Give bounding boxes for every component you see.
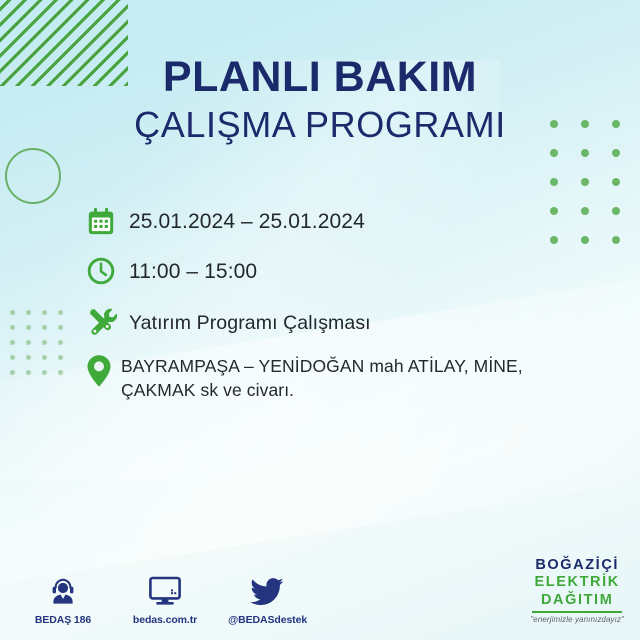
- contact-twitter-label: @BEDASdestek: [228, 614, 306, 626]
- tools-icon: [84, 304, 118, 338]
- twitter-bird-icon: [228, 572, 306, 608]
- contact-website[interactable]: bedas.com.tr: [126, 572, 204, 626]
- contact-website-label: bedas.com.tr: [126, 614, 204, 626]
- time-range-text: 11:00 – 15:00: [129, 254, 257, 284]
- page-subtitle: ÇALIŞMA PROGRAMI: [0, 104, 640, 145]
- page-title: PLANLI BAKIM: [0, 56, 640, 100]
- info-row-date: 25.01.2024 – 25.01.2024: [84, 204, 584, 242]
- work-type-text: Yatırım Programı Çalışması: [129, 304, 371, 336]
- info-row-work-type: Yatırım Programı Çalışması: [84, 304, 584, 342]
- company-logo: BOĞAZİÇİ ELEKTRİK DAĞITIM "enerjimizle y…: [530, 558, 624, 625]
- brand-line-3: DAĞITIM: [530, 593, 624, 608]
- contact-list: BEDAŞ 186 bedas.com.tr: [24, 572, 306, 626]
- info-list: 25.01.2024 – 25.01.2024 11:00 – 15:00: [84, 204, 584, 414]
- contact-phone[interactable]: BEDAŞ 186: [24, 572, 102, 626]
- brand-divider: [532, 611, 622, 613]
- brand-line-2: ELEKTRİK: [530, 575, 624, 590]
- calendar-icon: [84, 204, 118, 238]
- contact-phone-label: BEDAŞ 186: [24, 614, 102, 626]
- poster-heading: PLANLI BAKIM ÇALIŞMA PROGRAMI: [0, 56, 640, 145]
- info-row-time: 11:00 – 15:00: [84, 254, 584, 292]
- date-range-text: 25.01.2024 – 25.01.2024: [129, 204, 365, 234]
- monitor-icon: [126, 572, 204, 608]
- planned-maintenance-poster: PLANLI BAKIM ÇALIŞMA PROGRAMI: [0, 0, 640, 640]
- brand-tagline: "enerjimizle yanınızdayız": [530, 616, 624, 624]
- brand-line-1: BOĞAZİÇİ: [530, 558, 624, 573]
- info-row-location: BAYRAMPAŞA – YENİDOĞAN mah ATİLAY, MİNE,…: [84, 352, 584, 402]
- location-text: BAYRAMPAŞA – YENİDOĞAN mah ATİLAY, MİNE,…: [121, 352, 584, 402]
- poster-footer: BEDAŞ 186 bedas.com.tr: [0, 544, 640, 640]
- clock-icon: [84, 254, 118, 288]
- location-pin-icon: [84, 352, 114, 388]
- dot-grid-left-decoration: [10, 310, 74, 385]
- contact-twitter[interactable]: @BEDASdestek: [228, 572, 306, 626]
- circle-outline-decoration: [5, 148, 61, 204]
- headset-support-icon: [24, 572, 102, 608]
